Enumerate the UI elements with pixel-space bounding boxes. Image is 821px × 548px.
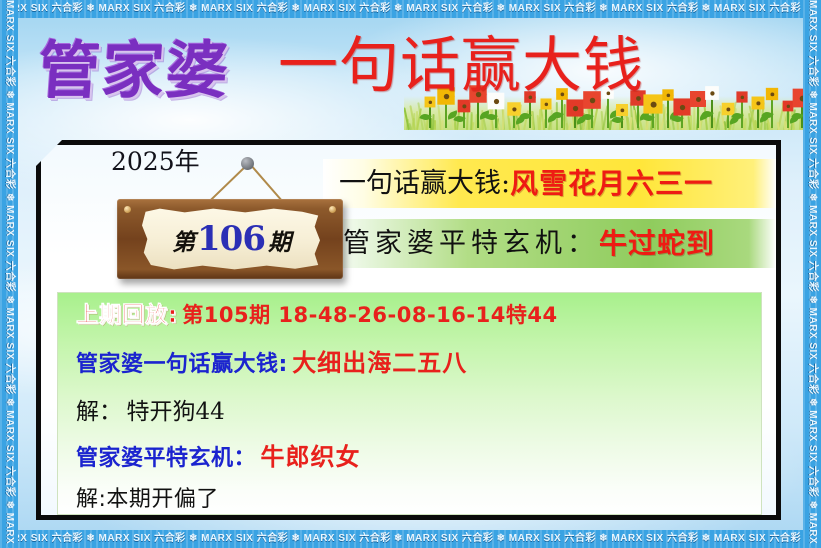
issue-suffix: 期: [268, 229, 290, 256]
brand-title: 管家婆: [36, 40, 232, 102]
poster-stage: 管家婆 一句话赢大钱 2025年 第106期 一句话赢大钱: 风雪花月六三一 管…: [0, 0, 821, 548]
issue-number: 106: [197, 219, 265, 259]
wooden-plaque: 第106期: [117, 199, 343, 279]
year-label: 2025年: [111, 149, 200, 174]
border-right-text: MARX SIX 六合彩 ❄ MARX SIX 六合彩 ❄ MARX SIX 六…: [803, 0, 821, 548]
border-bottom-text: MARX SIX 六合彩 ❄ MARX SIX 六合彩 ❄ MARX SIX 六…: [0, 530, 821, 548]
banner-slogan: 一句话赢大钱: 风雪花月六三一: [323, 159, 776, 208]
main-card: 2025年 第106期 一句话赢大钱: 风雪花月六三一 管家婆平特玄机： 牛过蛇…: [36, 140, 781, 520]
row-result-note: 解:本期开偏了: [76, 489, 219, 511]
border-left: MARX SIX 六合彩 ❄ MARX SIX 六合彩 ❄ MARX SIX 六…: [0, 0, 18, 548]
row-last-mystery-value: 牛郎织女: [260, 443, 360, 471]
border-top: MARX SIX 六合彩 ❄ MARX SIX 六合彩 ❄ MARX SIX 六…: [0, 0, 821, 18]
banner-mystery-value: 牛过蛇到: [599, 230, 715, 258]
banner-slogan-value: 风雪花月六三一: [510, 170, 713, 198]
history-panel: 上期回放: 第105期 18-48-26-08-16-14特44 管家婆一句话赢…: [57, 292, 762, 515]
border-top-text: MARX SIX 六合彩 ❄ MARX SIX 六合彩 ❄ MARX SIX 六…: [0, 0, 821, 18]
row-last-solution-value: 特开狗44: [126, 399, 224, 425]
row-last-solution: 解： 特开狗44: [76, 401, 225, 424]
slogan-title: 一句话赢大钱: [278, 36, 644, 96]
sign-peg-icon: [241, 157, 254, 170]
row-last-slogan-value: 大细出海二五八: [292, 349, 467, 377]
issue-number-group: 第106期: [172, 222, 290, 256]
row-last-draw-label: 上期回放:: [76, 303, 178, 328]
row-last-draw-value: 第105期 18-48-26-08-16-14特44: [182, 303, 557, 327]
border-left-text: MARX SIX 六合彩 ❄ MARX SIX 六合彩 ❄ MARX SIX 六…: [0, 0, 18, 548]
issue-prefix: 第: [172, 229, 194, 256]
row-last-solution-label: 解：: [76, 399, 122, 425]
banner-mystery: 管家婆平特玄机： 牛过蛇到: [323, 219, 776, 268]
row-last-slogan-label: 管家婆一句话赢大钱:: [76, 352, 288, 377]
row-last-draw: 上期回放: 第105期 18-48-26-08-16-14特44: [76, 305, 558, 327]
row-last-mystery-label: 管家婆平特玄机：: [76, 446, 256, 471]
poster-header: 管家婆 一句话赢大钱: [0, 18, 821, 130]
banner-mystery-label: 管家婆平特玄机：: [343, 230, 599, 257]
row-result-note-label: 解:本期开偏了: [76, 487, 219, 512]
parchment: 第106期: [142, 208, 320, 270]
row-last-slogan: 管家婆一句话赢大钱: 大细出海二五八: [76, 351, 467, 376]
border-right: MARX SIX 六合彩 ❄ MARX SIX 六合彩 ❄ MARX SIX 六…: [803, 0, 821, 548]
row-last-mystery: 管家婆平特玄机： 牛郎织女: [76, 445, 360, 470]
border-bottom: MARX SIX 六合彩 ❄ MARX SIX 六合彩 ❄ MARX SIX 六…: [0, 530, 821, 548]
